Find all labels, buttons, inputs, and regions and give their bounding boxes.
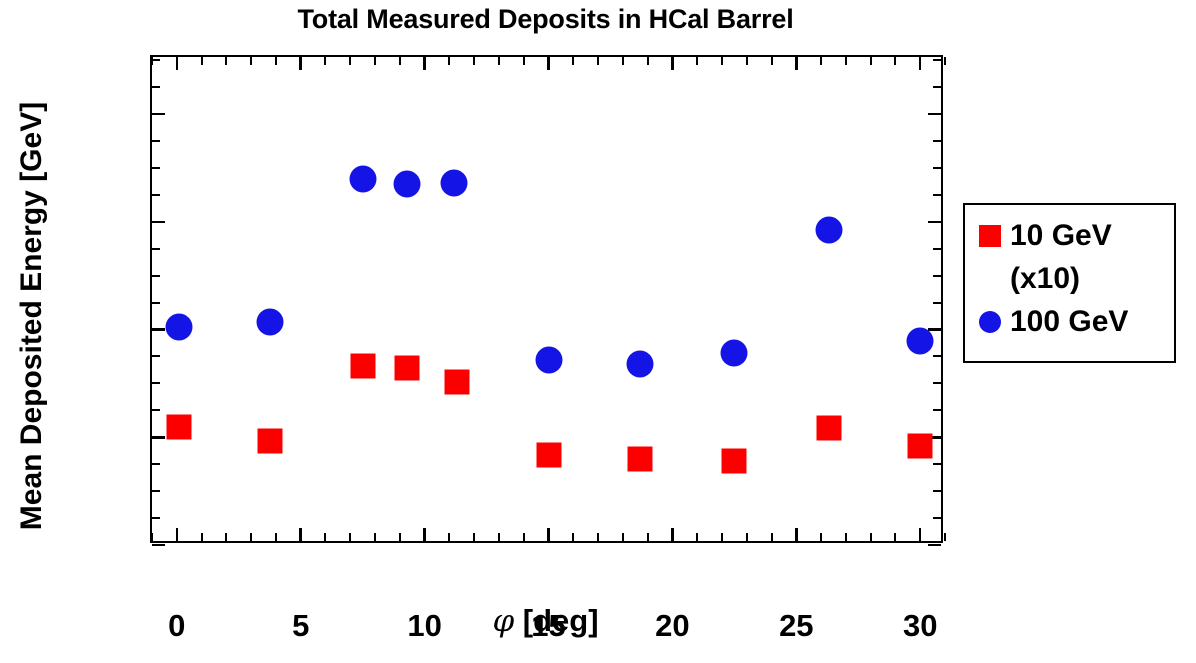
x-tick-major-top [671,57,674,70]
x-tick-minor-top [151,57,153,65]
x-tick-major-top [795,57,798,70]
x-tick-minor-top [845,57,847,65]
x-tick-minor [448,533,450,541]
x-tick-major [919,528,922,541]
x-tick-major-top [299,57,302,70]
data-point-circle [394,171,421,198]
y-tick-major-right [928,328,941,331]
x-tick-minor [225,533,227,541]
legend-item-10gev-scale: (x10) [979,257,1174,301]
x-tick-minor [944,533,946,541]
x-tick-label: 10 [407,608,441,644]
y-tick-minor-right [933,275,941,277]
y-tick-minor [152,59,160,61]
data-point-square [350,354,375,379]
x-tick-label: 5 [292,608,309,644]
x-tick-minor [349,533,351,541]
x-tick-label: 0 [168,608,185,644]
data-point-circle [441,170,468,197]
data-point-circle [166,314,193,341]
x-tick-minor [498,533,500,541]
x-tick-major [795,528,798,541]
y-tick-major-right [928,113,941,116]
y-tick-major [152,113,165,116]
x-tick-minor-top [647,57,649,65]
y-tick-minor [152,409,160,411]
y-tick-major [152,436,165,439]
x-tick-minor-top [324,57,326,65]
x-tick-minor [473,533,475,541]
x-tick-minor-top [820,57,822,65]
x-tick-label: 25 [779,608,813,644]
y-tick-major-right [928,221,941,224]
x-tick-minor-top [275,57,277,65]
x-tick-minor [324,533,326,541]
y-tick-minor-right [933,248,941,250]
x-tick-minor [523,533,525,541]
x-tick-minor-top [746,57,748,65]
x-tick-minor [201,533,203,541]
x-tick-minor [399,533,401,541]
x-tick-minor [572,533,574,541]
x-tick-major [671,528,674,541]
data-point-circle [627,351,654,378]
x-tick-minor-top [250,57,252,65]
x-tick-minor [746,533,748,541]
x-tick-minor-top [622,57,624,65]
data-point-circle [721,340,748,367]
y-tick-minor [152,490,160,492]
square-marker-icon [979,225,1001,247]
data-point-circle [815,217,842,244]
x-tick-minor-top [721,57,723,65]
x-tick-minor-top [448,57,450,65]
data-point-square [444,370,469,395]
x-tick-major-top [547,57,550,70]
data-point-square [536,442,561,467]
x-tick-minor-top [696,57,698,65]
x-tick-minor [696,533,698,541]
x-tick-minor [275,533,277,541]
y-tick-minor [152,248,160,250]
x-tick-major [547,528,550,541]
x-tick-major-top [176,57,179,70]
y-tick-major [152,544,165,547]
x-tick-minor-top [894,57,896,65]
x-tick-minor-top [572,57,574,65]
x-tick-minor-top [870,57,872,65]
chart-legend: 10 GeV (x10) 100 GeV [963,203,1176,363]
data-point-circle [907,328,934,355]
y-tick-minor-right [933,382,941,384]
y-tick-minor-right [933,463,941,465]
y-tick-major-right [928,544,941,547]
x-tick-minor [622,533,624,541]
x-tick-minor [845,533,847,541]
x-tick-minor [820,533,822,541]
x-tick-minor-top [201,57,203,65]
x-tick-minor [771,533,773,541]
y-tick-minor-right [933,59,941,61]
x-tick-minor-top [944,57,946,65]
y-tick-minor-right [933,167,941,169]
x-tick-minor [647,533,649,541]
y-tick-minor [152,302,160,304]
y-tick-minor [152,140,160,142]
y-tick-minor-right [933,140,941,142]
x-tick-minor-top [225,57,227,65]
x-tick-minor [151,533,153,541]
x-tick-major [176,528,179,541]
y-tick-minor-right [933,409,941,411]
y-tick-minor-right [933,517,941,519]
data-point-square [816,415,841,440]
x-tick-minor-top [349,57,351,65]
y-tick-minor [152,355,160,357]
data-point-square [722,448,747,473]
x-tick-label: 30 [903,608,937,644]
y-tick-minor-right [933,302,941,304]
x-tick-label: 20 [655,608,689,644]
y-tick-minor-right [933,194,941,196]
x-tick-minor [250,533,252,541]
circle-marker-icon [979,311,1001,333]
data-point-square [167,414,192,439]
y-tick-minor-right [933,355,941,357]
x-tick-minor-top [597,57,599,65]
x-tick-major [423,528,426,541]
x-tick-minor-top [498,57,500,65]
y-tick-minor [152,275,160,277]
legend-item-10gev[interactable]: 10 GeV [979,215,1174,257]
data-point-circle [535,346,562,373]
data-point-circle [256,309,283,336]
x-tick-minor [721,533,723,541]
data-point-square [395,356,420,381]
y-tick-minor [152,517,160,519]
x-tick-minor [870,533,872,541]
legend-label-100gev: 100 GeV [1010,305,1128,339]
x-tick-minor-top [399,57,401,65]
plot-area: 0.000.010.020.030.04 051015202530 [150,55,943,543]
x-tick-minor [894,533,896,541]
y-tick-minor [152,194,160,196]
x-tick-major-top [423,57,426,70]
x-tick-minor-top [771,57,773,65]
y-tick-minor [152,382,160,384]
data-point-square [628,446,653,471]
legend-label-10gev-scale: (x10) [1010,262,1080,296]
y-tick-minor-right [933,86,941,88]
phi-symbol: φ [492,603,514,639]
y-tick-minor [152,167,160,169]
x-tick-minor [597,533,599,541]
x-tick-major [299,528,302,541]
data-point-circle [349,165,376,192]
y-tick-major [152,221,165,224]
chart-figure: Total Measured Deposits in HCal Barrel M… [0,0,1196,663]
chart-title: Total Measured Deposits in HCal Barrel [148,4,943,35]
x-tick-minor-top [473,57,475,65]
x-tick-minor [374,533,376,541]
x-tick-minor-top [523,57,525,65]
legend-item-100gev[interactable]: 100 GeV [979,301,1174,343]
y-axis-label: Mean Deposited Energy [GeV] [15,31,49,601]
x-tick-major-top [919,57,922,70]
x-tick-minor-top [374,57,376,65]
y-tick-minor [152,463,160,465]
legend-label-10gev: 10 GeV [1010,219,1112,253]
data-point-square [908,433,933,458]
y-tick-minor [152,86,160,88]
y-tick-major [152,328,165,331]
x-tick-label: 15 [531,608,565,644]
y-tick-minor-right [933,490,941,492]
data-point-square [257,428,282,453]
